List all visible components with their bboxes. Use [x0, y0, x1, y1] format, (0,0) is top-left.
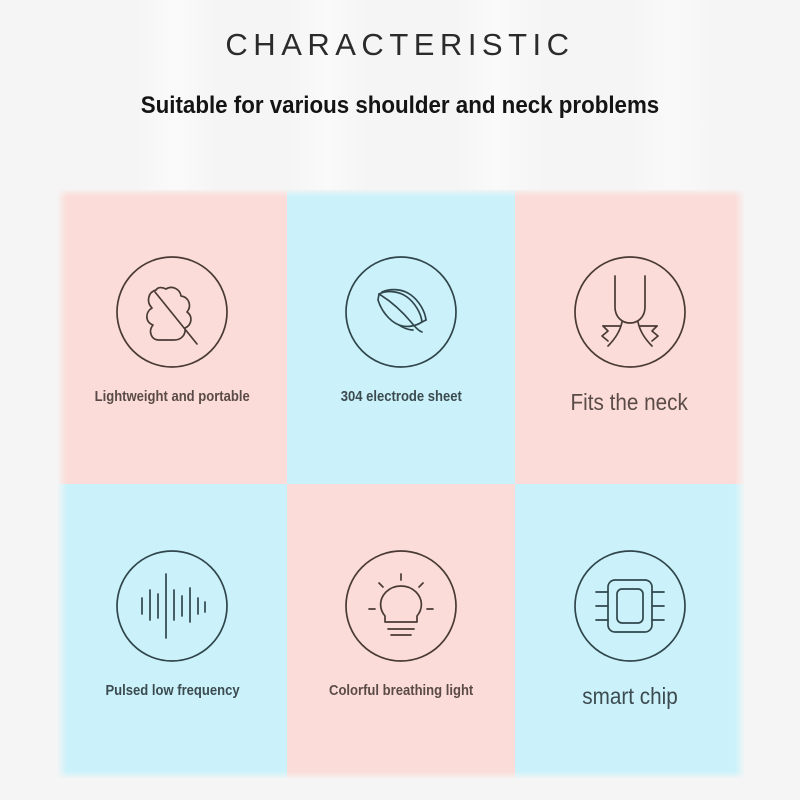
lightbulb-icon	[341, 546, 461, 666]
feature-card-label: 304 electrode sheet	[340, 390, 461, 406]
neck-icon	[570, 252, 690, 372]
feature-card-label: Colorful breathing light	[329, 684, 473, 700]
page-subtitle: Suitable for various shoulder and neck p…	[28, 63, 772, 120]
feature-card-pulsed-low-frequency[interactable]: Pulsed low frequency	[58, 484, 287, 778]
feature-card-label: smart chip	[582, 684, 677, 709]
page-header: CHARACTERISTIC Suitable for various shou…	[0, 0, 800, 190]
feature-card-label: Pulsed low frequency	[105, 684, 239, 700]
feather-icon	[112, 252, 232, 372]
feature-card-lightweight-and-portable[interactable]: Lightweight and portable	[58, 190, 287, 484]
feature-card-fits-the-neck[interactable]: Fits the neck	[515, 190, 744, 484]
feature-card-colorful-breathing-light[interactable]: Colorful breathing light	[287, 484, 516, 778]
feature-card-304-electrode-sheet[interactable]: 304 electrode sheet	[287, 190, 516, 484]
feature-card-label: Fits the neck	[571, 390, 688, 415]
chip-icon	[570, 546, 690, 666]
feature-card-smart-chip[interactable]: smart chip	[515, 484, 744, 778]
feature-grid: Lightweight and portable 304 electrode s…	[58, 190, 744, 778]
feature-card-label: Lightweight and portable	[95, 390, 250, 406]
waveform-icon	[112, 546, 232, 666]
electrode-sheet-icon	[341, 252, 461, 372]
page-title: CHARACTERISTIC	[0, 0, 800, 63]
